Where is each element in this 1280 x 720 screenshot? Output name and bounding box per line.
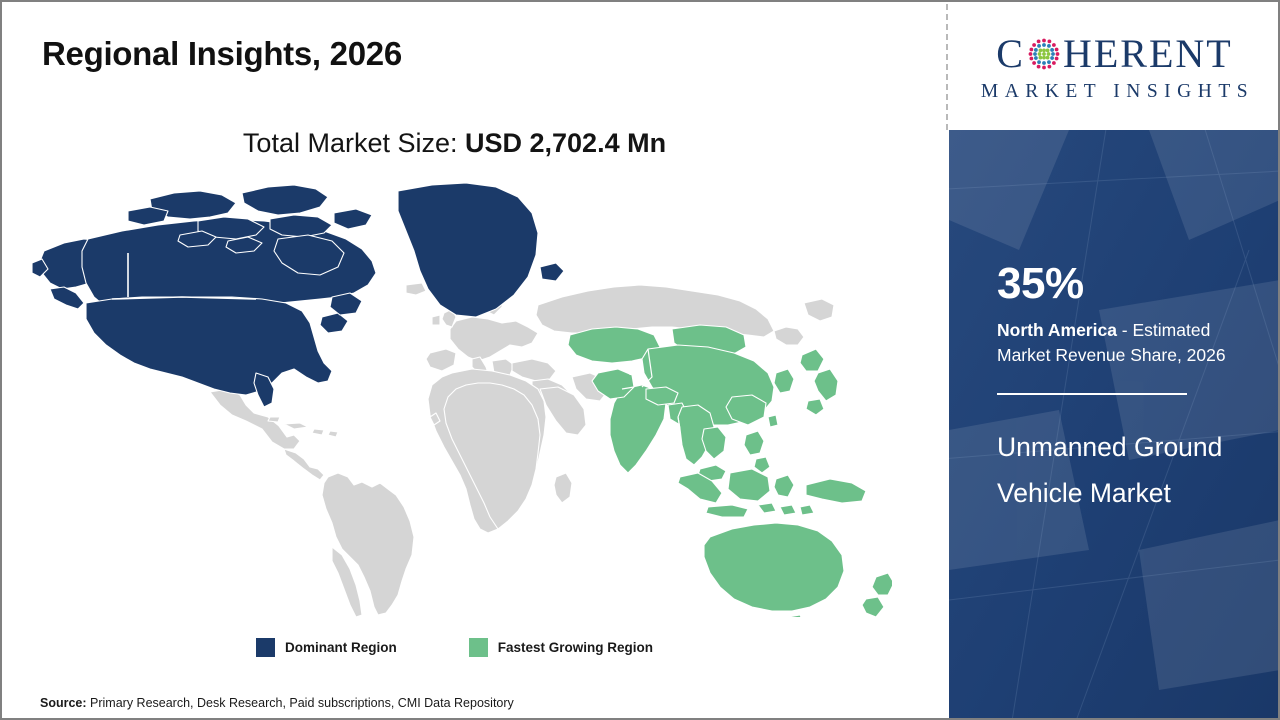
legend-label-fastest-growing: Fastest Growing Region [498,640,653,655]
map-legend: Dominant Region Fastest Growing Region [2,638,907,657]
total-market-size: Total Market Size: USD 2,702.4 Mn [2,128,907,159]
stat-percentage: 35% [997,262,1265,306]
stat-panel: 35% North America - Estimated Market Rev… [949,130,1280,720]
market-size-label: Total Market Size: [243,128,465,158]
logo-subtitle: MARKET INSIGHTS [975,81,1254,103]
logo-word-rest: HERENT [1063,34,1233,74]
legend-label-dominant: Dominant Region [285,640,397,655]
stat-region-name: North America [997,320,1117,340]
legend-item-fastest-growing: Fastest Growing Region [469,638,653,657]
source-note: Source: Primary Research, Desk Research,… [40,696,514,710]
legend-swatch-dominant-icon [256,638,275,657]
market-name: Unmanned Ground Vehicle Market [997,425,1265,516]
panel-divider [946,4,948,130]
logo-word-first: C [996,34,1025,74]
globe-dot-matrix-icon [1026,36,1062,72]
regional-insights-infographic: Regional Insights, 2026 Total Market Siz… [0,0,1280,720]
page-title: Regional Insights, 2026 [42,35,402,73]
market-size-value: USD 2,702.4 Mn [465,128,666,158]
logo-wordmark: C [996,31,1232,77]
left-content-panel: Regional Insights, 2026 Total Market Siz… [2,2,946,718]
brand-logo: C [949,4,1280,130]
legend-item-dominant: Dominant Region [256,638,397,657]
map-fastest-growing-regions [568,325,892,617]
world-map-svg [32,177,892,617]
world-map [32,177,892,617]
legend-swatch-fastest-growing-icon [469,638,488,657]
source-label: Source: [40,696,87,710]
source-text: Primary Research, Desk Research, Paid su… [87,696,514,710]
stat-description: North America - Estimated Market Revenue… [997,318,1265,368]
stat-content: 35% North America - Estimated Market Rev… [997,262,1265,516]
stat-divider-rule [997,393,1187,395]
